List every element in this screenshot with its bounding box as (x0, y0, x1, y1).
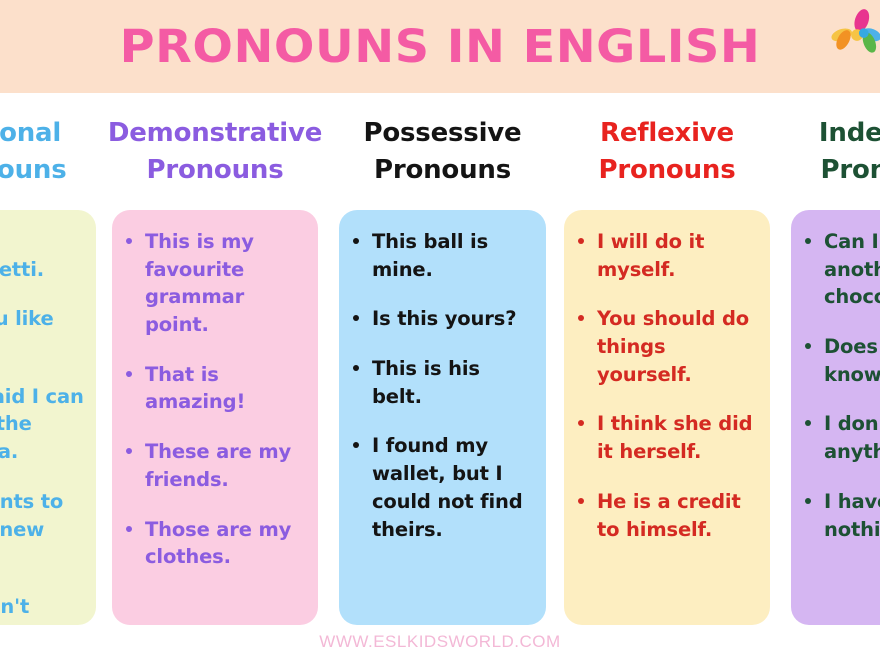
list-item-text: I like spaghetti. (0, 230, 44, 281)
list-item: I don't know anything. (803, 410, 880, 465)
list-item-text: We don't know (0, 595, 29, 625)
column-heading: Possessive Pronouns (331, 115, 554, 189)
list-item: You should do things yourself. (576, 305, 760, 388)
bullet-icon (126, 448, 132, 454)
bullet-icon (126, 238, 132, 244)
list-item-text: This ball is mine. (372, 230, 488, 281)
list-item-text: I have nothing left. (824, 490, 880, 541)
list-item: I think she did it herself. (576, 410, 760, 465)
list-item: That is amazing! (124, 361, 308, 416)
flower-icon (828, 6, 880, 68)
list-item-text: This is his belt. (372, 357, 480, 408)
bullet-icon (126, 371, 132, 377)
list-item-text: He wants to buy a new car. (0, 490, 63, 568)
column-card: I like spaghetti. Do you like me? She sa… (0, 210, 96, 625)
bullet-icon (805, 498, 811, 504)
example-list: This ball is mine. Is this yours? This i… (351, 228, 536, 543)
list-item: This ball is mine. (351, 228, 536, 283)
list-item: These are my friends. (124, 438, 308, 493)
header-band: PRONOUNS IN ENGLISH (0, 0, 880, 93)
column-possessive-pronouns: Possessive Pronouns This ball is mine. I… (331, 93, 554, 633)
example-list: Can I have another chocolate? Does anyon… (803, 228, 880, 543)
example-list: This is my favourite grammar point. That… (124, 228, 308, 571)
list-item: Those are my clothes. (124, 516, 308, 571)
bullet-icon (805, 238, 811, 244)
list-item-text: I don't know anything. (824, 412, 880, 463)
list-item-text: These are my friends. (145, 440, 291, 491)
bullet-icon (578, 238, 584, 244)
list-item-text: I think she did it herself. (597, 412, 752, 463)
list-item: I found my wallet, but I could not find … (351, 432, 536, 543)
column-heading: Demonstrative Pronouns (104, 115, 326, 189)
list-item: Do you like me? (0, 305, 86, 360)
bullet-icon (578, 420, 584, 426)
column-card: I will do it myself. You should do thing… (564, 210, 770, 625)
column-card: Can I have another chocolate? Does anyon… (791, 210, 880, 625)
bullet-icon (578, 498, 584, 504)
list-item-text: Do you like me? (0, 307, 54, 358)
bullet-icon (805, 420, 811, 426)
column-heading: Personal Pronouns (0, 115, 104, 189)
bullet-icon (353, 238, 359, 244)
list-item: I have nothing left. (803, 488, 880, 543)
list-item: Can I have another chocolate? (803, 228, 880, 311)
page-title: PRONOUNS IN ENGLISH (0, 0, 880, 93)
column-heading: Reflexive Pronouns (556, 115, 778, 189)
column-indefinite-pronouns: Indefinite Pronouns Can I have another c… (783, 93, 880, 633)
example-list: I will do it myself. You should do thing… (576, 228, 760, 543)
column-card: This ball is mine. Is this yours? This i… (339, 210, 546, 625)
bullet-icon (353, 315, 359, 321)
column-reflexive-pronouns: Reflexive Pronouns I will do it myself. … (556, 93, 778, 633)
list-item-text: I will do it myself. (597, 230, 704, 281)
list-item: Is this yours? (351, 305, 536, 333)
site-watermark: WWW.ESLKIDSWORLD.COM (0, 632, 880, 652)
column-demonstrative-pronouns: Demonstrative Pronouns This is my favour… (104, 93, 326, 633)
list-item: This is his belt. (351, 355, 536, 410)
list-item-text: Can I have another chocolate? (824, 230, 880, 308)
list-item: Does anyone know him? (803, 333, 880, 388)
column-card: This is my favourite grammar point. That… (112, 210, 318, 625)
list-item-text: You should do things yourself. (597, 307, 749, 385)
list-item: This is my favourite grammar point. (124, 228, 308, 339)
list-item: I like spaghetti. (0, 228, 86, 283)
list-item: We don't know (0, 593, 86, 625)
column-heading: Indefinite Pronouns (783, 115, 880, 189)
pronoun-columns: Personal Pronouns I like spaghetti. Do y… (0, 93, 880, 633)
bullet-icon (805, 343, 811, 349)
bullet-icon (126, 526, 132, 532)
list-item-text: He is a credit to himself. (597, 490, 741, 541)
list-item-text: Those are my clothes. (145, 518, 291, 569)
list-item-text: Does anyone know him? (824, 335, 880, 386)
list-item-text: That is amazing! (145, 363, 245, 414)
list-item-text: I found my wallet, but I could not find … (372, 434, 523, 540)
list-item-text: Is this yours? (372, 307, 516, 330)
list-item: He is a credit to himself. (576, 488, 760, 543)
list-item: I will do it myself. (576, 228, 760, 283)
list-item: She said I can go to the cinema. (0, 383, 86, 466)
bullet-icon (578, 315, 584, 321)
list-item-text: This is my favourite grammar point. (145, 230, 254, 336)
list-item: He wants to buy a new car. (0, 488, 86, 571)
column-personal-pronouns: Personal Pronouns I like spaghetti. Do y… (0, 93, 104, 633)
example-list: I like spaghetti. Do you like me? She sa… (0, 228, 86, 625)
list-item-text: She said I can go to the cinema. (0, 385, 84, 463)
bullet-icon (353, 442, 359, 448)
bullet-icon (353, 365, 359, 371)
